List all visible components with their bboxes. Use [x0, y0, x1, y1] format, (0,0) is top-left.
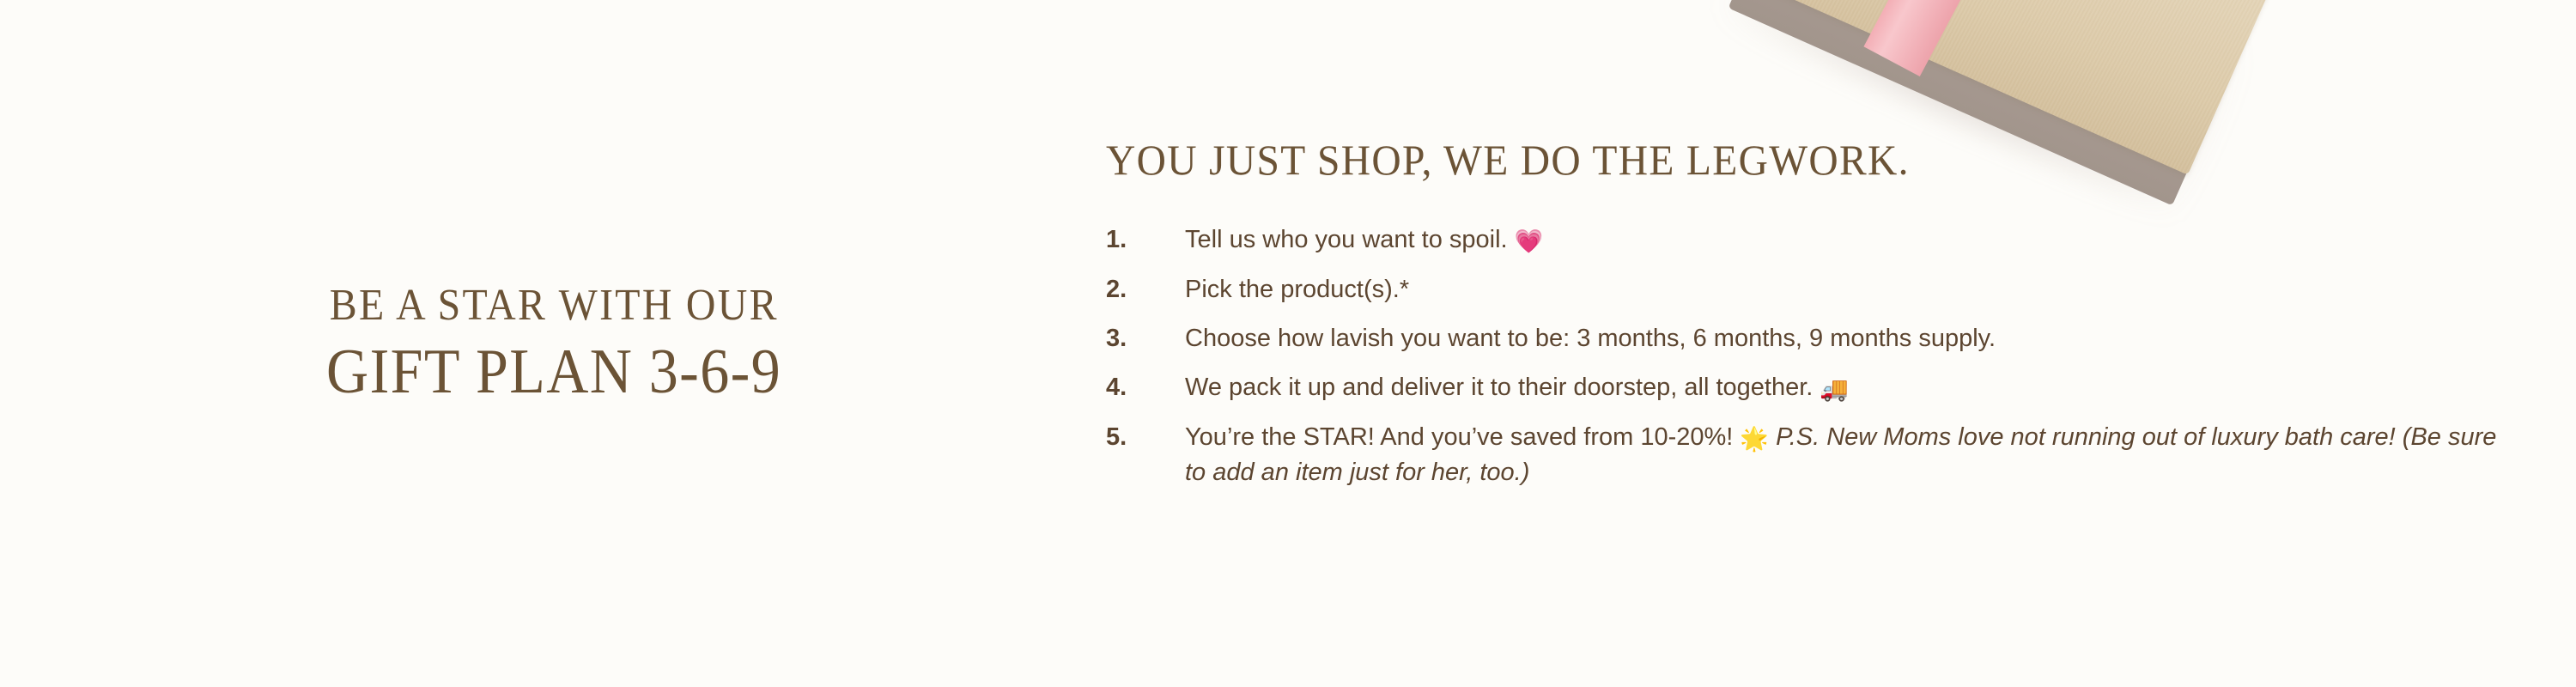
glowing-star-emoji: 🌟: [1740, 426, 1769, 453]
left-headline-block: BE A STAR WITH OUR GIFT PLAN 3-6-9: [0, 0, 1108, 687]
list-item: 4. We pack it up and deliver it to their…: [1106, 370, 2514, 405]
list-item: 5. You’re the STAR! And you’ve saved fro…: [1106, 420, 2514, 489]
giftbox-ribbon-vertical: [1863, 0, 2052, 76]
steps-list: 1. Tell us who you want to spoil. 💗 2. P…: [1106, 222, 2514, 490]
step-number: 3.: [1106, 321, 1185, 356]
step-text: Tell us who you want to spoil. 💗: [1185, 222, 2514, 258]
growing-heart-emoji: 💗: [1515, 228, 1544, 255]
headline-line-2: GIFT PLAN 3-6-9: [326, 340, 781, 404]
list-item: 3. Choose how lavish you want to be: 3 m…: [1106, 321, 2514, 356]
step-number: 2.: [1106, 272, 1185, 307]
step-label: We pack it up and deliver it to their do…: [1185, 374, 1820, 401]
step-label: Tell us who you want to spoil.: [1185, 226, 1515, 253]
delivery-truck-emoji: 🚚: [1820, 376, 1849, 403]
steps-heading: YOU JUST SHOP, WE DO THE LEGWORK.: [1106, 137, 2444, 183]
gift-plan-banner: BE A STAR WITH OUR GIFT PLAN 3-6-9 YOU J…: [0, 0, 2576, 687]
list-item: 2. Pick the product(s).*: [1106, 272, 2514, 307]
step-text: Pick the product(s).*: [1185, 272, 2514, 307]
step-number: 1.: [1106, 222, 1185, 257]
step-text: You’re the STAR! And you’ve saved from 1…: [1185, 420, 2514, 489]
step-label: Pick the product(s).*: [1185, 276, 1409, 303]
step-label: You’re the STAR! And you’ve saved from 1…: [1185, 423, 1740, 451]
step-label: Choose how lavish you want to be: 3 mont…: [1185, 325, 1996, 352]
step-number: 4.: [1106, 370, 1185, 404]
step-text: We pack it up and deliver it to their do…: [1185, 370, 2514, 405]
step-number: 5.: [1106, 420, 1185, 454]
right-content-block: YOU JUST SHOP, WE DO THE LEGWORK. 1. Tel…: [1106, 137, 2514, 489]
list-item: 1. Tell us who you want to spoil. 💗: [1106, 222, 2514, 258]
headline-line-1: BE A STAR WITH OUR: [329, 283, 778, 328]
step-text: Choose how lavish you want to be: 3 mont…: [1185, 321, 2514, 356]
